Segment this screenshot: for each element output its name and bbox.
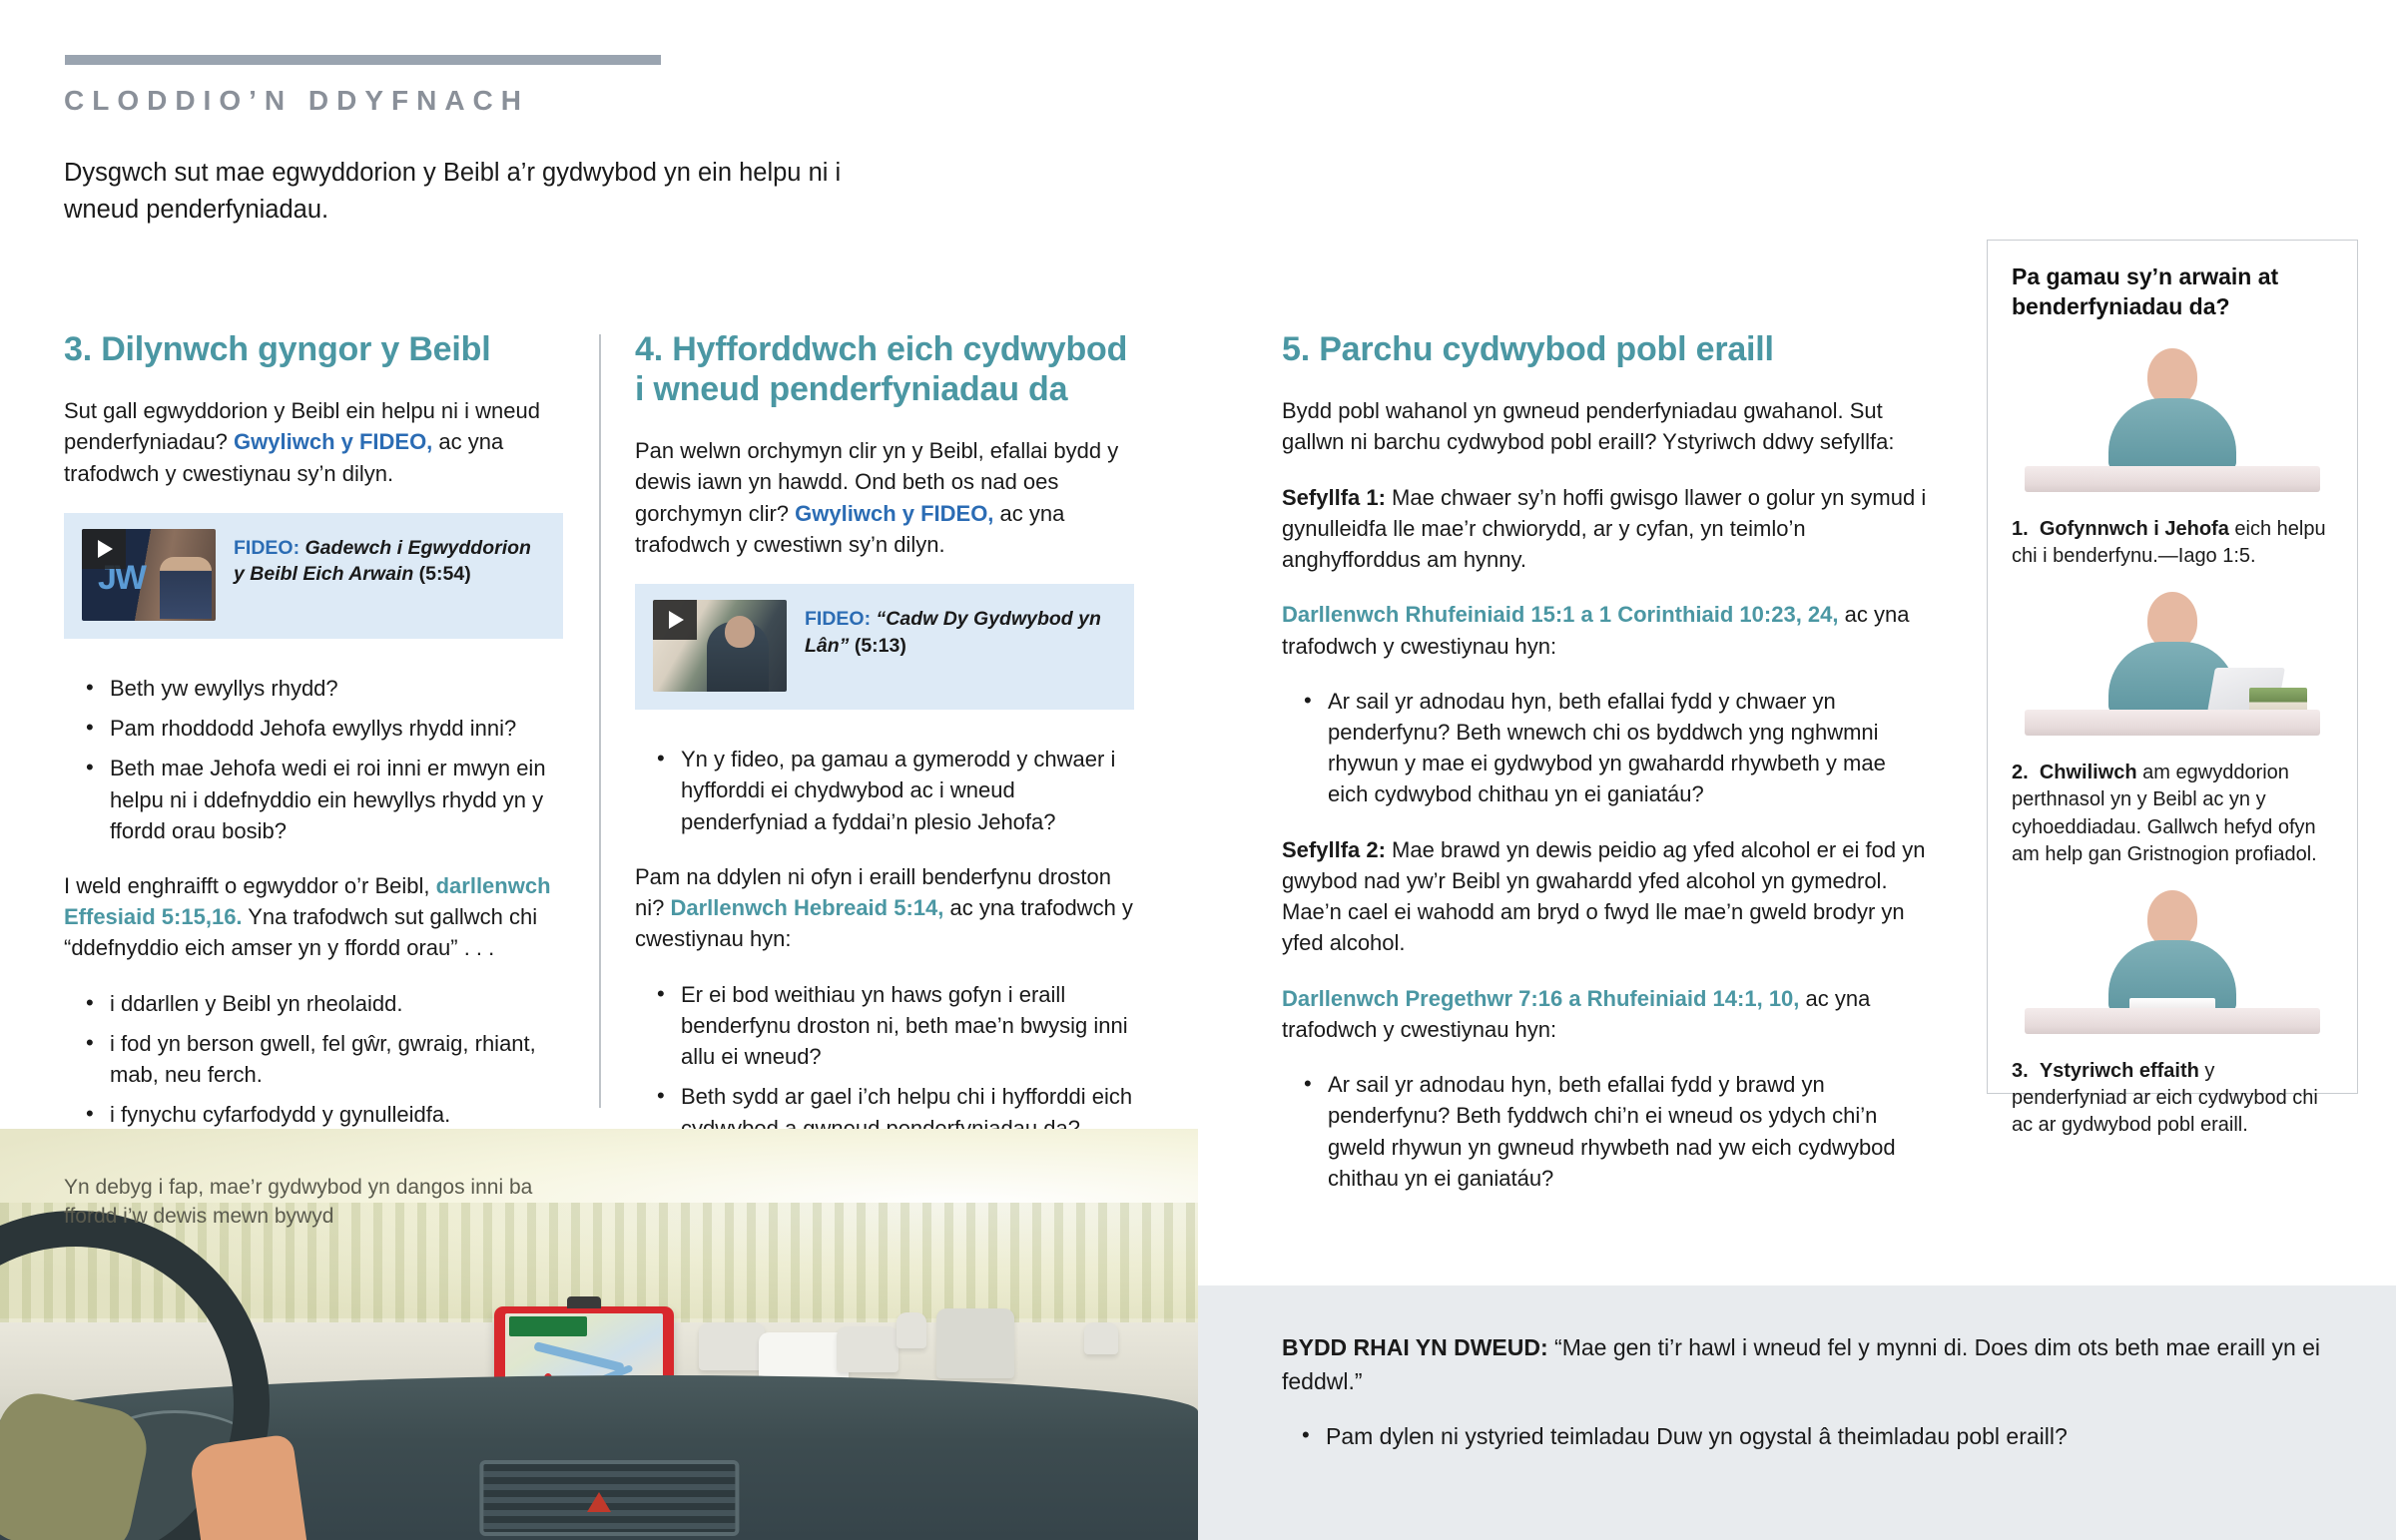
person-face-shape	[725, 616, 755, 648]
situation-2: Sefyllfa 2: Mae brawd yn dewis peidio ag…	[1282, 834, 1931, 959]
video-thumbnail-4[interactable]	[653, 600, 787, 692]
video-caption-4: FIDEO: “Cadw Dy Gydwybod yn Lân” (5:13)	[805, 600, 1116, 659]
car-shape	[699, 1322, 765, 1370]
situation-2-label: Sefyllfa 2:	[1282, 837, 1386, 862]
question-list-5b: Ar sail yr adnodau hyn, beth efallai fyd…	[1282, 1069, 1931, 1194]
step-3-text: 3. Ystyriwch effaith y penderfyniad ar e…	[2012, 1058, 2333, 1140]
read-instruction-2: Darllenwch Pregethwr 7:16 a Rhufeiniaid …	[1282, 983, 1931, 1045]
video-callout-4[interactable]: FIDEO: “Cadw Dy Gydwybod yn Lân” (5:13)	[635, 584, 1134, 710]
scripture-link-5b[interactable]: Darllenwch Pregethwr 7:16 a Rhufeiniaid …	[1282, 986, 1799, 1011]
driver-hand	[188, 1433, 308, 1540]
woman-praying-at-table-illustration	[2012, 348, 2333, 498]
section-kicker: CLODDIO’N DDYFNACH	[64, 85, 529, 117]
list-item: Ar sail yr adnodau hyn, beth efallai fyd…	[1328, 1069, 1931, 1194]
header-rule	[65, 55, 661, 65]
list-item: Pam rhoddodd Jehofa ewyllys rhydd inni?	[110, 713, 563, 744]
intro-paragraph-5: Bydd pobl wahanol yn gwneud penderfyniad…	[1282, 395, 1931, 457]
some-will-say-label: BYDD RHAI YN DWEUD:	[1282, 1334, 1548, 1360]
video-label-4: FIDEO:	[805, 608, 871, 630]
column-divider	[599, 334, 601, 1108]
heading-section-5: 5. Parchu cydwybod pobl eraill	[1282, 329, 1931, 369]
hazard-light-icon[interactable]	[587, 1492, 611, 1512]
column-section-3: 3. Dilynwch gyngor y Beibl Sut gall egwy…	[64, 329, 563, 1155]
step-2-number: 2.	[2012, 762, 2029, 783]
car-shape	[936, 1308, 1014, 1378]
table-shape	[2025, 710, 2320, 736]
para2-pre-3: I weld enghraifft o egwyddor o’r Beibl,	[64, 873, 436, 898]
table-shape	[2025, 466, 2320, 492]
sidebox-title: Pa gamau sy’n arwain at benderfyniadau d…	[2012, 262, 2333, 322]
some-will-say-text: BYDD RHAI YN DWEUD: “Mae gen ti’r hawl i…	[1282, 1331, 2332, 1398]
list-item: Er ei bod weithiau yn haws gofyn i erail…	[681, 979, 1134, 1073]
list-item: Beth yw ewyllys rhydd?	[110, 673, 563, 704]
video-callout-3[interactable]: JW FIDEO: Gadewch i Egwyddorion y Beibl …	[64, 513, 563, 639]
video-caption-3: FIDEO: Gadewch i Egwyddorion y Beibl Eic…	[234, 529, 545, 588]
steps-sidebar-box: Pa gamau sy’n arwain at benderfyniadau d…	[1987, 240, 2358, 1094]
question-list-4b: Er ei bod weithiau yn haws gofyn i erail…	[635, 979, 1134, 1144]
column-section-5: 5. Parchu cydwybod pobl eraill Bydd pobl…	[1282, 329, 1931, 1218]
step-2-strong: Chwiliwch	[2040, 762, 2137, 783]
list-item: Pam dylen ni ystyried teimladau Duw yn o…	[1326, 1420, 2332, 1453]
list-item: i fynychu cyfarfodydd y gynulleidfa.	[110, 1099, 563, 1130]
photo-caption: Yn debyg i fap, mae’r gydwybod yn dangos…	[64, 1173, 543, 1232]
paragraph-3b: I weld enghraifft o egwyddor o’r Beibl, …	[64, 870, 563, 964]
video-link-3[interactable]: Gwyliwch y FIDEO,	[234, 429, 432, 454]
car-shape	[837, 1326, 898, 1372]
step-3-strong: Ystyriwch effaith	[2040, 1060, 2199, 1082]
some-will-say-panel: BYDD RHAI YN DWEUD: “Mae gen ti’r hawl i…	[1198, 1285, 2396, 1540]
question-list-3b: i ddarllen y Beibl yn rheolaidd. i fod y…	[64, 988, 563, 1131]
step-1-strong: Gofynnwch i Jehofa	[2040, 518, 2229, 540]
column-section-4: 4. Hyfforddwch eich cydwybod i wneud pen…	[635, 329, 1134, 1168]
play-icon[interactable]	[82, 529, 126, 569]
paragraph-4b: Pam na ddylen ni ofyn i eraill benderfyn…	[635, 861, 1134, 955]
situation-1-label: Sefyllfa 1:	[1282, 485, 1386, 510]
scripture-link-5a[interactable]: Darllenwch Rhufeiniaid 15:1 a 1 Corinthi…	[1282, 602, 1839, 627]
video-label-3: FIDEO:	[234, 537, 299, 559]
table-shape	[2025, 1008, 2320, 1034]
list-item: Ar sail yr adnodau hyn, beth efallai fyd…	[1328, 686, 1931, 810]
step-3-number: 3.	[2012, 1060, 2029, 1082]
step-1-text: 1. Gofynnwch i Jehofa eich helpu chi i b…	[2012, 516, 2333, 570]
video-link-4[interactable]: Gwyliwch y FIDEO,	[795, 501, 993, 526]
question-list-3a: Beth yw ewyllys rhydd? Pam rhoddodd Jeho…	[64, 673, 563, 846]
phone-clip	[567, 1296, 601, 1308]
video-duration-4: (5:13)	[855, 635, 906, 657]
situation-1: Sefyllfa 1: Mae chwaer sy’n hoffi gwisgo…	[1282, 482, 1931, 576]
step-2-text: 2. Chwiliwch am egwyddorion perthnasol y…	[2012, 760, 2333, 868]
some-will-say-questions: Pam dylen ni ystyried teimladau Duw yn o…	[1282, 1420, 2332, 1453]
list-item: i fod yn berson gwell, fel gŵr, gwraig, …	[110, 1028, 563, 1090]
intro-paragraph-4: Pan welwn orchymyn clir yn y Beibl, efal…	[635, 435, 1134, 560]
intro-paragraph-3: Sut gall egwyddorion y Beibl ein helpu n…	[64, 395, 563, 489]
list-item: Beth mae Jehofa wedi ei roi inni er mwyn…	[110, 753, 563, 846]
list-item: Yn y fideo, pa gamau a gymerodd y chwaer…	[681, 744, 1134, 837]
video-duration-3: (5:54)	[419, 563, 471, 585]
torso-shape	[2108, 398, 2236, 470]
heading-section-3: 3. Dilynwch gyngor y Beibl	[64, 329, 563, 369]
deck-text: Dysgwch sut mae egwyddorion y Beibl a’r …	[64, 155, 863, 229]
question-list-5a: Ar sail yr adnodau hyn, beth efallai fyd…	[1282, 686, 1931, 810]
scripture-link-4[interactable]: Darllenwch Hebreaid 5:14,	[670, 895, 943, 920]
video-thumbnail-3[interactable]: JW	[82, 529, 216, 621]
question-list-4a: Yn y fideo, pa gamau a gymerodd y chwaer…	[635, 744, 1134, 837]
woman-thinking-with-bible-illustration	[2012, 890, 2333, 1040]
step-1-number: 1.	[2012, 518, 2029, 540]
heading-section-4: 4. Hyfforddwch eich cydwybod i wneud pen…	[635, 329, 1134, 409]
woman-researching-on-laptop-illustration	[2012, 592, 2333, 742]
map-route-line	[534, 1341, 625, 1372]
read-instruction-1: Darllenwch Rhufeiniaid 15:1 a 1 Corinthi…	[1282, 599, 1931, 661]
car-shape	[1084, 1322, 1118, 1354]
list-item: i ddarllen y Beibl yn rheolaidd.	[110, 988, 563, 1019]
street-name-banner	[509, 1316, 587, 1336]
play-icon[interactable]	[653, 600, 697, 640]
car-shape	[897, 1312, 926, 1348]
